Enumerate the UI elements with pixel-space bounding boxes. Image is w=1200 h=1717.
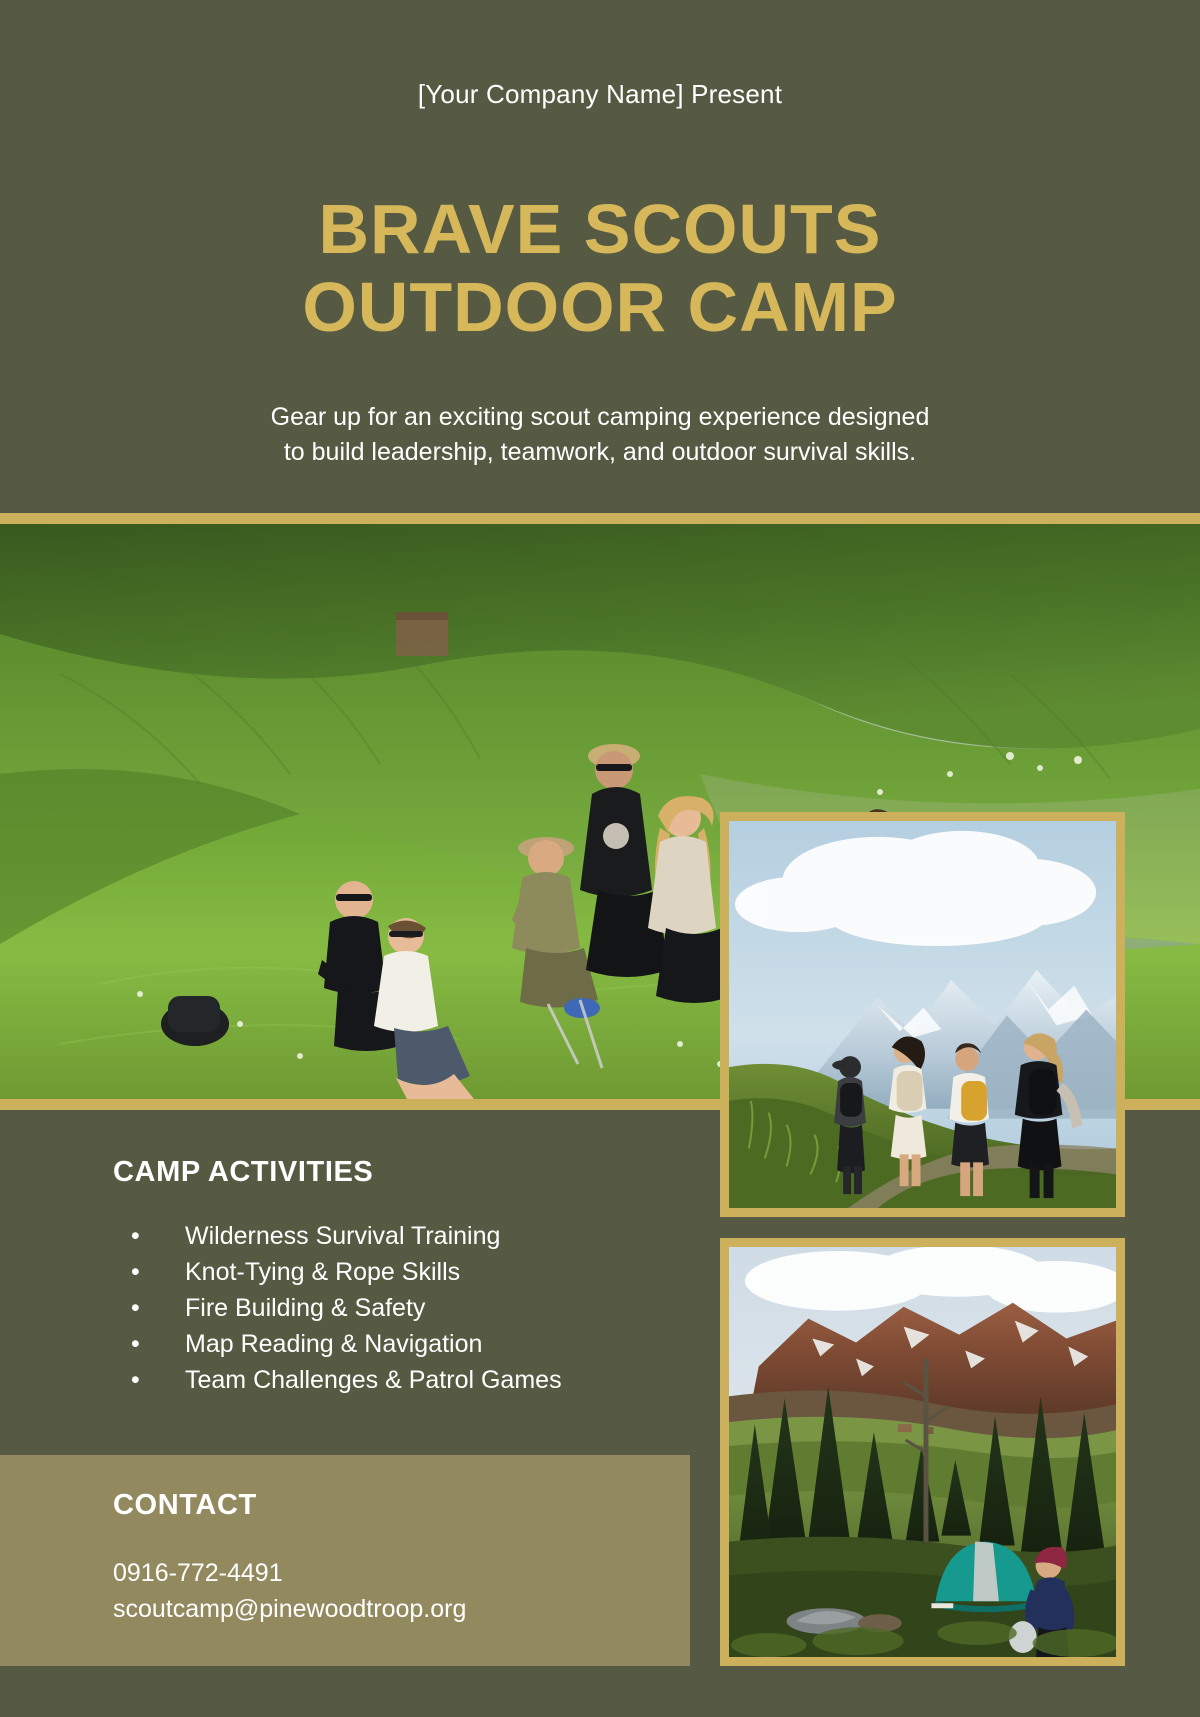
camp-activities-list: • Wilderness Survival Training • Knot-Ty…: [113, 1218, 673, 1398]
page-title: BRAVE SCOUTS OUTDOOR CAMP: [0, 190, 1200, 346]
page-title-line-2: OUTDOOR CAMP: [0, 268, 1200, 346]
subtitle-line-1: Gear up for an exciting scout camping ex…: [150, 400, 1050, 435]
divider-gold-top: [0, 513, 1200, 524]
contact-heading: CONTACT: [113, 1489, 257, 1522]
footer-band: [0, 1666, 1200, 1717]
subtitle: Gear up for an exciting scout camping ex…: [150, 400, 1050, 470]
inset-photo-frame: [729, 1247, 1116, 1657]
page-title-line-1: BRAVE SCOUTS: [0, 190, 1200, 268]
camp-activities-section: CAMP ACTIVITIES • Wilderness Survival Tr…: [0, 1110, 690, 1455]
bullet-icon: •: [131, 1254, 140, 1290]
presenter-line: [Your Company Name] Present: [0, 79, 1200, 110]
bullet-icon: •: [131, 1362, 140, 1398]
list-item-label: Fire Building & Safety: [185, 1294, 425, 1322]
inset-photo-campsite-tent-forest: [720, 1238, 1125, 1666]
poster-canvas: [Your Company Name] Present BRAVE SCOUTS…: [0, 0, 1200, 1717]
contact-email[interactable]: scoutcamp@pinewoodtroop.org: [113, 1591, 466, 1627]
camp-activities-heading: CAMP ACTIVITIES: [113, 1156, 373, 1189]
inset-photo-frame: [729, 821, 1116, 1208]
list-item-label: Map Reading & Navigation: [185, 1330, 482, 1358]
list-item: • Knot-Tying & Rope Skills: [113, 1254, 673, 1290]
list-item-label: Knot-Tying & Rope Skills: [185, 1258, 460, 1286]
list-item-label: Team Challenges & Patrol Games: [185, 1366, 562, 1394]
list-item: • Wilderness Survival Training: [113, 1218, 673, 1254]
list-item-label: Wilderness Survival Training: [185, 1222, 500, 1250]
header-section: [Your Company Name] Present BRAVE SCOUTS…: [0, 0, 1200, 513]
contact-section: CONTACT 0916-772-4491 scoutcamp@pinewood…: [0, 1455, 690, 1685]
bullet-icon: •: [131, 1326, 140, 1362]
inset-photo-hikers-mountain-trail: [720, 812, 1125, 1217]
bullet-icon: •: [131, 1290, 140, 1326]
contact-phone[interactable]: 0916-772-4491: [113, 1555, 283, 1591]
subtitle-line-2: to build leadership, teamwork, and outdo…: [150, 435, 1050, 470]
list-item: • Fire Building & Safety: [113, 1290, 673, 1326]
list-item: • Team Challenges & Patrol Games: [113, 1362, 673, 1398]
list-item: • Map Reading & Navigation: [113, 1326, 673, 1362]
bullet-icon: •: [131, 1218, 140, 1254]
